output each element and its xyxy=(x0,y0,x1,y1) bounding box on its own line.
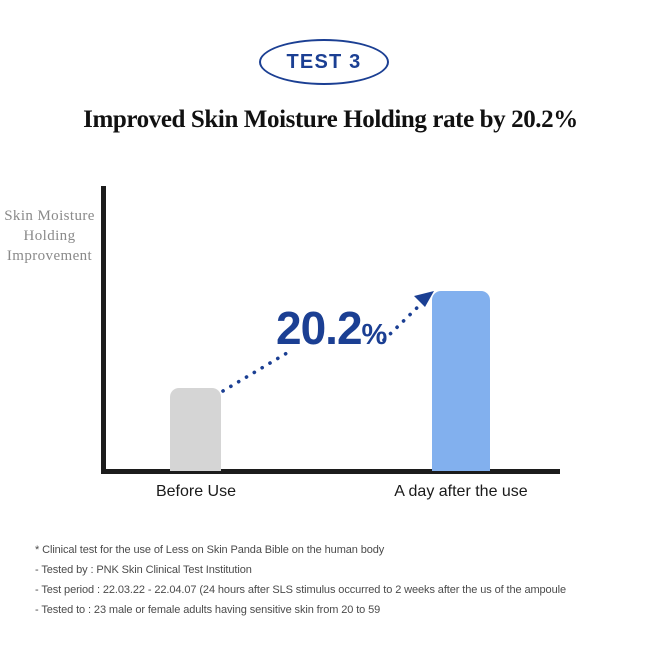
x-tick-label-before-use: Before Use xyxy=(116,483,276,501)
y-axis-label: Skin Moisture Holding Improvement xyxy=(0,206,99,266)
bar-before-use xyxy=(170,388,221,471)
x-tick-label-after-use: A day after the use xyxy=(381,483,541,501)
y-axis-line xyxy=(101,186,106,474)
footnote-line: - Tested to : 23 male or female adults h… xyxy=(35,600,650,620)
growth-annotation: 20.2% xyxy=(276,305,387,351)
growth-percent-sign: % xyxy=(362,319,388,351)
bar-a-day-after-the-use xyxy=(432,291,490,471)
growth-number: 20.2 xyxy=(276,302,362,354)
footnote-line: - Test period : 22.03.22 - 22.04.07 (24 … xyxy=(35,580,650,600)
footnote-line: - Tested by : PNK Skin Clinical Test Ins… xyxy=(35,560,650,580)
footnote-line: * Clinical test for the use of Less on S… xyxy=(35,540,650,560)
footnotes: * Clinical test for the use of Less on S… xyxy=(35,540,650,620)
